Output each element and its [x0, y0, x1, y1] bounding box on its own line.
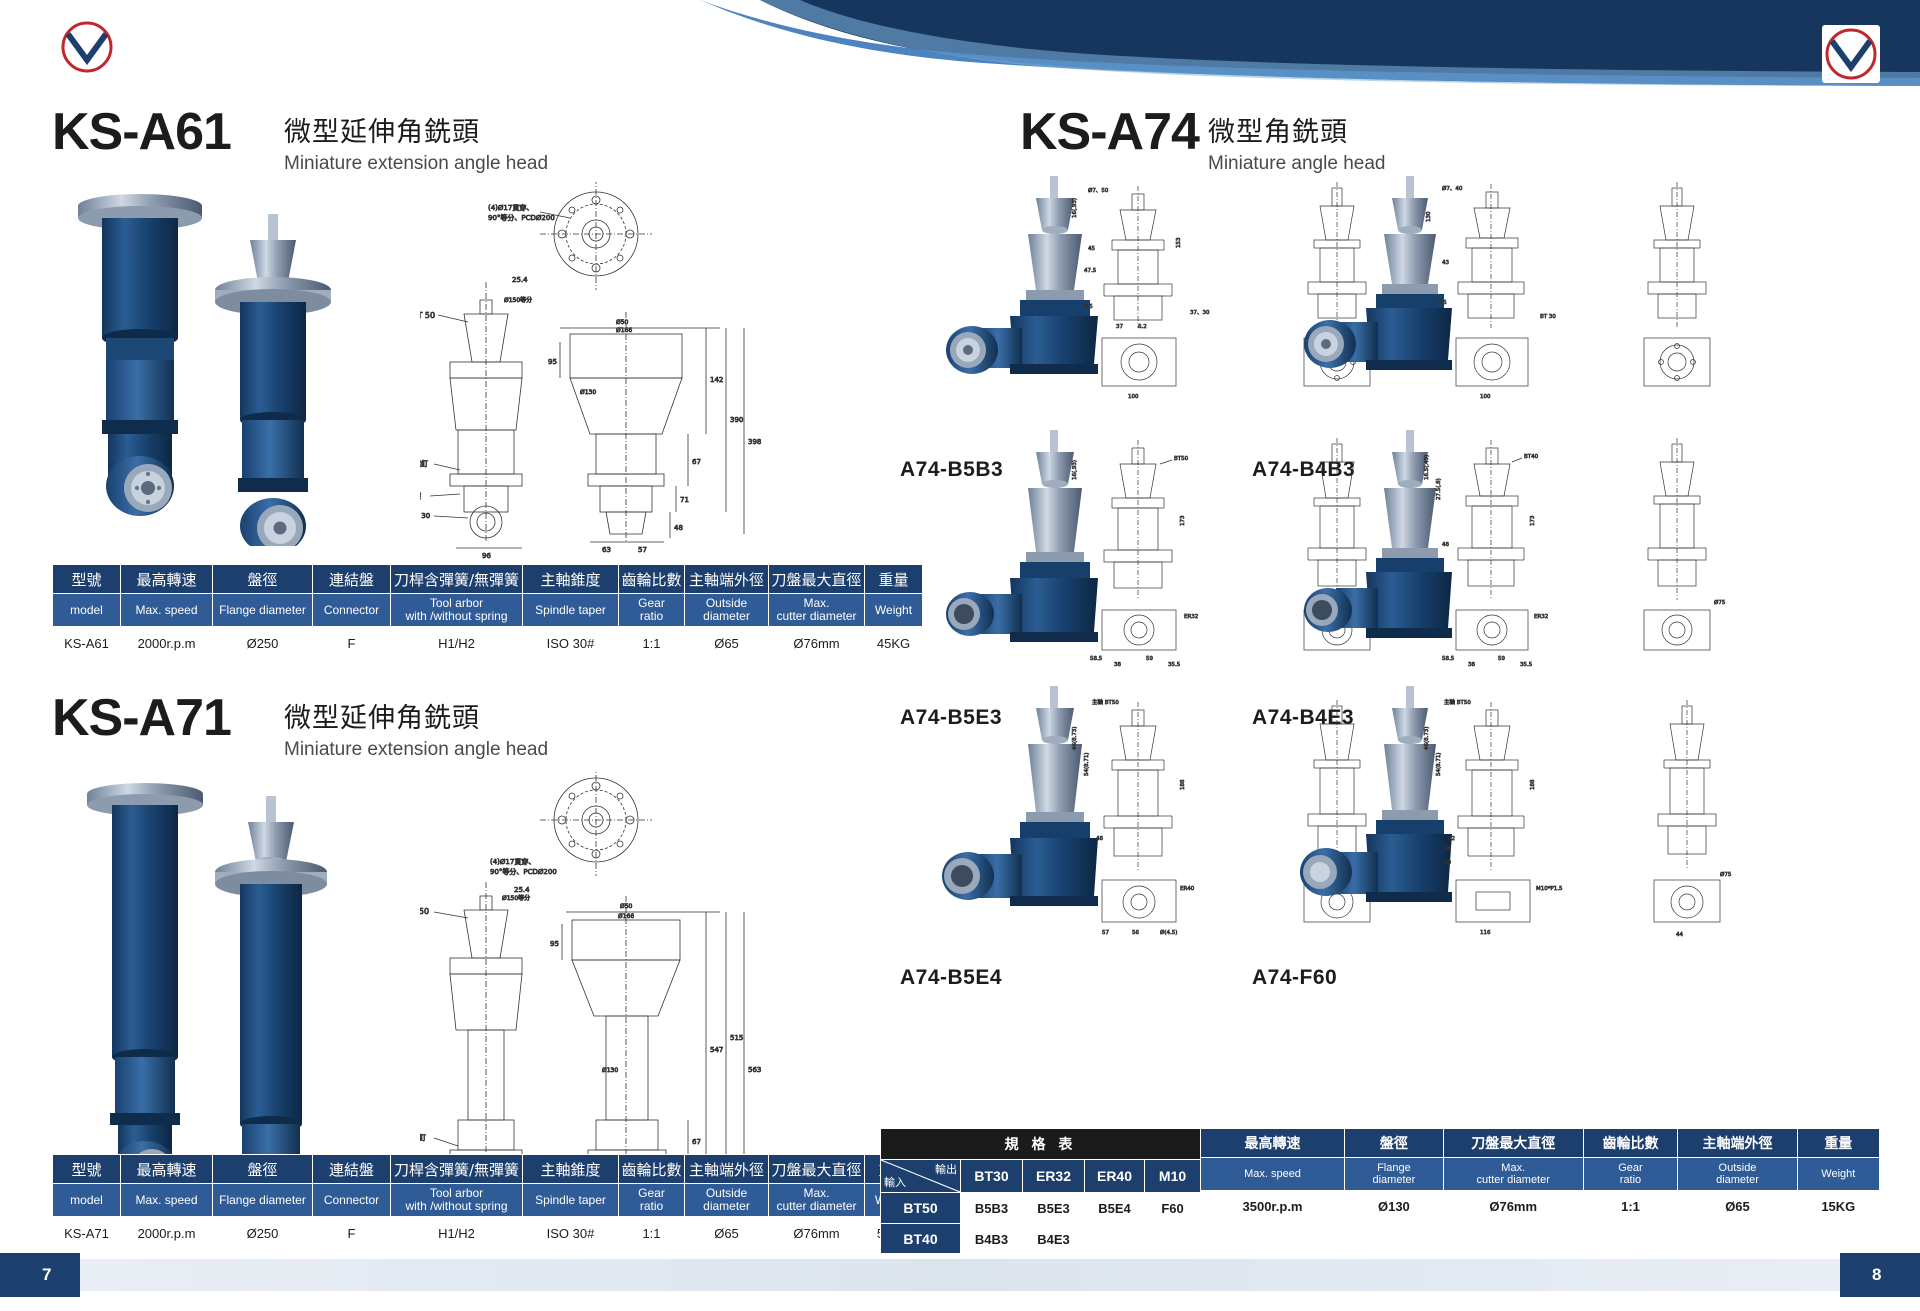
variant-label-a74-b5e4: A74-B5E4: [900, 966, 1002, 990]
svg-text:59: 59: [1146, 656, 1153, 662]
th-cn-8: 刀盤最大直徑: [769, 1155, 865, 1184]
svg-text:BT50: BT50: [1174, 456, 1189, 462]
svg-text:ER40: ER40: [1180, 886, 1195, 892]
svg-text:主軸 BT50: 主軸 BT50: [1092, 698, 1119, 706]
td-0: KS-A71: [53, 1217, 121, 1250]
product-title-cn: 微型延伸角銑頭: [284, 110, 548, 149]
svg-text:BT40: BT40: [1524, 454, 1539, 460]
svg-text:54(8.71): 54(8.71): [1084, 752, 1090, 776]
product-title-ks-a71: KS-A71: [52, 688, 231, 748]
svg-text:67: 67: [692, 1138, 701, 1146]
svg-text:90°等分、PCDØ200: 90°等分、PCDØ200: [490, 867, 557, 876]
perf-th-en-1: Flange diameter: [1345, 1158, 1444, 1191]
matrix-cell-1-0: B4B3: [961, 1224, 1023, 1255]
page-footer: 7 8: [0, 1253, 1920, 1311]
th-en-8: Max. cutter diameter: [769, 594, 865, 627]
th-en-5: Spindle taper: [523, 1184, 619, 1217]
product-title-cn: 微型角銑頭: [1208, 110, 1385, 149]
td-7: Ø65: [685, 1217, 769, 1250]
th-en-0: model: [53, 1184, 121, 1217]
svg-text:390: 390: [730, 416, 743, 424]
td-3: F: [313, 627, 391, 660]
svg-text:43: 43: [1442, 260, 1449, 266]
perf-th-en-2: Max. cutter diameter: [1443, 1158, 1583, 1191]
svg-text:BT 30: BT 30: [1540, 314, 1556, 320]
spec-table-ks-a71: 型號 最高轉速 盤徑 連結盤 刀桿含彈簧/無彈簧 主軸錐度 齒輪比數 主軸端外徑…: [52, 1154, 923, 1250]
svg-text:Ø130: Ø130: [580, 389, 596, 396]
svg-text:46(8.73): 46(8.73): [1424, 726, 1430, 750]
th-cn-6: 齒輪比數: [619, 565, 685, 594]
product-subtitle-ks-a71: 微型延伸角銑頭 Miniature extension angle head: [284, 696, 548, 761]
axis-in-label: 輸入: [884, 1174, 906, 1190]
svg-text:173: 173: [1180, 515, 1186, 526]
table-header-row-cn: 型號 最高轉速 盤徑 連結盤 刀桿含彈簧/無彈簧 主軸錐度 齒輪比數 主軸端外徑…: [53, 1155, 923, 1184]
technical-drawing-a74-b4e3: BT40 16.5(.49) 27.5(.8) 48 173 ER32 38 5…: [1420, 434, 1620, 674]
catalog-spread: KS-A61 微型延伸角銑頭 Miniature extension angle…: [0, 86, 1920, 1286]
svg-text:主軸BT 30: 主軸BT 30: [420, 511, 430, 520]
product-photo-ks-a61-front: [40, 186, 360, 546]
svg-text:Ø150等分: Ø150等分: [502, 894, 530, 902]
matrix-cell-1-2: [1085, 1224, 1145, 1255]
matrix-cell-1-1: B4E3: [1023, 1224, 1085, 1255]
svg-text:46(8.73): 46(8.73): [1072, 726, 1078, 750]
product-title-cn: 微型延伸角銑頭: [284, 696, 548, 735]
product-code: KS-A61: [52, 103, 231, 161]
footer-left-block: [0, 1253, 80, 1297]
matrix-cell-0-3: F60: [1145, 1193, 1201, 1224]
th-cn-7: 主軸端外徑: [685, 1155, 769, 1184]
matrix-cell-0-2: B5E4: [1085, 1193, 1145, 1224]
company-logo-icon: [60, 20, 114, 74]
product-title-en: Miniature extension angle head: [284, 739, 548, 761]
th-en-2: Flange diameter: [213, 594, 313, 627]
svg-text:153: 153: [1176, 237, 1182, 248]
svg-text:Ø50: Ø50: [616, 319, 629, 326]
svg-text:563: 563: [748, 1066, 761, 1074]
svg-text:Ø7、50: Ø7、50: [1088, 187, 1109, 194]
svg-text:16(.93): 16(.93): [1072, 198, 1078, 218]
th-en-3: Connector: [313, 594, 391, 627]
svg-text:16.5(.49): 16.5(.49): [1424, 455, 1430, 480]
matrix-cell-1-3: [1145, 1224, 1201, 1255]
th-cn-1: 最高轉速: [121, 565, 213, 594]
td-7: Ø65: [685, 627, 769, 660]
page-number-left: 7: [42, 1265, 51, 1285]
svg-text:116: 116: [1480, 930, 1491, 936]
product-subtitle-ks-a61: 微型延伸角銑頭 Miniature extension angle head: [284, 110, 548, 175]
th-cn-6: 齒輪比數: [619, 1155, 685, 1184]
technical-drawing-a74-b4b3-side: [1600, 178, 1760, 408]
th-en-1: Max. speed: [121, 1184, 213, 1217]
svg-text:100: 100: [1480, 394, 1491, 400]
td-2: Ø250: [213, 627, 313, 660]
table-header-row-en: model Max. speed Flange diameter Connect…: [53, 1184, 923, 1217]
technical-drawing-a74-b4b3: Ø7、40 130 43 4.5 100 BT 30: [1420, 178, 1620, 408]
matrix-cell-0-0: B5B3: [961, 1193, 1023, 1224]
technical-drawing-a74-f60-side: Ø75 44: [1610, 690, 1770, 940]
svg-text:4.5: 4.5: [1438, 300, 1447, 306]
matrix-row-label-1: BT40: [881, 1224, 961, 1255]
svg-text:35.5: 35.5: [1168, 662, 1181, 668]
th-en-4: Tool arbor with /without spring: [391, 1184, 523, 1217]
svg-text:Ø7、40: Ø7、40: [1442, 185, 1463, 192]
th-en-2: Flange diameter: [213, 1184, 313, 1217]
th-cn-3: 連結盤: [313, 565, 391, 594]
perf-header-row-en: Max. speed Flange diameter Max. cutter d…: [1201, 1158, 1880, 1191]
svg-text:95: 95: [550, 940, 559, 948]
th-en-4: Tool arbor with /without spring: [391, 594, 523, 627]
table-header-row-cn: 型號 最高轉速 盤徑 連結盤 刀桿含彈簧/無彈簧 主軸錐度 齒輪比數 主軸端外徑…: [53, 565, 923, 594]
td-1: 2000r.p.m: [121, 627, 213, 660]
svg-text:173: 173: [1530, 515, 1536, 526]
perf-th-cn-4: 主軸端外徑: [1678, 1129, 1797, 1158]
variant-label-a74-f60: A74-F60: [1252, 966, 1337, 990]
svg-text:57: 57: [638, 546, 647, 554]
td-6: 1:1: [619, 627, 685, 660]
svg-text:38: 38: [1114, 662, 1121, 668]
svg-text:Ø(4.5): Ø(4.5): [1160, 929, 1177, 936]
perf-th-en-5: Weight: [1797, 1158, 1879, 1191]
th-cn-2: 盤徑: [213, 565, 313, 594]
svg-text:58.5: 58.5: [1090, 656, 1103, 662]
perf-td-3: 1:1: [1583, 1191, 1678, 1222]
td-5: ISO 30#: [523, 1217, 619, 1250]
td-8: Ø76mm: [769, 627, 865, 660]
svg-text:38: 38: [1468, 662, 1475, 668]
matrix-col-2: ER40: [1085, 1160, 1145, 1193]
perf-th-en-0: Max. speed: [1201, 1158, 1345, 1191]
svg-text:37、30: 37、30: [1190, 310, 1210, 316]
perf-td-2: Ø76mm: [1443, 1191, 1583, 1222]
performance-table: 最高轉速 盤徑 刀盤最大直徑 齒輪比數 主軸端外徑 重量 Max. speed …: [1200, 1128, 1880, 1222]
svg-text:(4)Ø17貫穿、: (4)Ø17貫穿、: [490, 857, 535, 866]
model-matrix-table: 規 格 表 輸入 輸出 BT30 ER32 ER40 M10 BT50 B5B3…: [880, 1128, 1201, 1255]
td-4: H1/H2: [391, 1217, 523, 1250]
perf-th-cn-2: 刀盤最大直徑: [1443, 1129, 1583, 1158]
perf-th-en-3: Gear ratio: [1583, 1158, 1678, 1191]
svg-text:25.4: 25.4: [514, 886, 530, 894]
matrix-title: 規 格 表: [881, 1129, 1201, 1160]
th-cn-5: 主軸錐度: [523, 1155, 619, 1184]
td-4: H1/H2: [391, 627, 523, 660]
svg-text:35.5: 35.5: [1520, 662, 1533, 668]
svg-text:90°等分、PCDØ200: 90°等分、PCDØ200: [488, 213, 555, 222]
th-en-8: Max. cutter diameter: [769, 1184, 865, 1217]
svg-text:刻度螺釘: 刻度螺釘: [420, 1133, 426, 1142]
matrix-row-bt50: BT50 B5B3 B5E3 B5E4 F60: [881, 1193, 1201, 1224]
svg-text:Ø166: Ø166: [616, 327, 632, 334]
svg-text:48: 48: [674, 524, 683, 532]
svg-text:BT 50: BT 50: [420, 311, 435, 320]
svg-text:188: 188: [1180, 779, 1186, 790]
svg-text:398: 398: [748, 438, 761, 446]
svg-text:47.5: 47.5: [1084, 268, 1097, 274]
technical-drawing-ks-a61: (4)Ø17貫穿、 90°等分、PCDØ200 25.4 BT 50 刻度螺釘: [420, 182, 920, 562]
svg-text:188: 188: [1530, 779, 1536, 790]
matrix-col-0: BT30: [961, 1160, 1023, 1193]
matrix-row-label-0: BT50: [881, 1193, 961, 1224]
svg-text:58.5: 58.5: [1442, 656, 1455, 662]
svg-text:Ø75: Ø75: [1720, 871, 1732, 878]
svg-text:67: 67: [692, 458, 701, 466]
th-en-5: Spindle taper: [523, 594, 619, 627]
th-cn-2: 盤徑: [213, 1155, 313, 1184]
svg-text:34: 34: [1444, 846, 1451, 852]
svg-text:6.5: 6.5: [1084, 304, 1093, 310]
matrix-cell-0-1: B5E3: [1023, 1193, 1085, 1224]
svg-text:63: 63: [602, 546, 611, 554]
svg-text:BT 50: BT 50: [420, 907, 429, 916]
th-cn-4: 刀桿含彈簧/無彈簧: [391, 565, 523, 594]
svg-text:刻度螺釘: 刻度螺釘: [420, 459, 428, 468]
td-1: 2000r.p.m: [121, 1217, 213, 1250]
th-cn-0: 型號: [53, 1155, 121, 1184]
matrix-row-bt40: BT40 B4B3 B4E3: [881, 1224, 1201, 1255]
axis-label-cell: 輸入 輸出: [881, 1160, 961, 1193]
table-value-row: KS-A61 2000r.p.m Ø250 F H1/H2 ISO 30# 1:…: [53, 627, 923, 660]
svg-text:71: 71: [680, 496, 689, 504]
td-3: F: [313, 1217, 391, 1250]
svg-text:54(8.71): 54(8.71): [1436, 752, 1442, 776]
matrix-col-3: M10: [1145, 1160, 1201, 1193]
th-cn-7: 主軸端外徑: [685, 565, 769, 594]
technical-drawing-a74-f60: 主軸 BT50 46(8.73) 54(8.71) 188 42 M10*P1.…: [1420, 690, 1630, 940]
th-en-6: Gear ratio: [619, 1184, 685, 1217]
td-2: Ø250: [213, 1217, 313, 1250]
svg-text:Ø130: Ø130: [602, 1067, 618, 1074]
svg-text:Ø75: Ø75: [1714, 599, 1726, 606]
page-number-right: 8: [1872, 1265, 1881, 1285]
svg-text:142: 142: [710, 376, 723, 384]
perf-th-cn-3: 齒輪比數: [1583, 1129, 1678, 1158]
perf-td-1: Ø130: [1345, 1191, 1444, 1222]
company-logo-icon: [1824, 27, 1878, 81]
svg-text:130: 130: [1426, 211, 1432, 222]
svg-text:16(.93): 16(.93): [1072, 460, 1078, 480]
th-cn-4: 刀桿含彈簧/無彈簧: [391, 1155, 523, 1184]
product-subtitle-ks-a74: 微型角銑頭 Miniature angle head: [1208, 110, 1385, 175]
svg-text:44: 44: [1676, 932, 1683, 938]
th-en-3: Connector: [313, 1184, 391, 1217]
svg-text:6.2: 6.2: [1138, 324, 1147, 330]
th-en-7: Outside diameter: [685, 1184, 769, 1217]
th-en-7: Outside diameter: [685, 594, 769, 627]
perf-td-4: Ø65: [1678, 1191, 1797, 1222]
svg-text:56: 56: [1132, 930, 1139, 936]
svg-text:主軸 BT50: 主軸 BT50: [1444, 698, 1471, 706]
th-en-6: Gear ratio: [619, 594, 685, 627]
svg-text:95: 95: [548, 358, 557, 366]
th-cn-8: 刀盤最大直徑: [769, 565, 865, 594]
axis-out-label: 輸出: [935, 1161, 957, 1177]
svg-text:45: 45: [1088, 246, 1095, 252]
svg-text:59: 59: [1498, 656, 1505, 662]
svg-text:42: 42: [1448, 836, 1455, 842]
perf-th-en-4: Outside diameter: [1678, 1158, 1797, 1191]
svg-text:100: 100: [1128, 394, 1139, 400]
perf-th-cn-0: 最高轉速: [1201, 1129, 1345, 1158]
svg-text:30: 30: [1444, 860, 1451, 866]
th-cn-0: 型號: [53, 565, 121, 594]
svg-text:48: 48: [1096, 836, 1103, 842]
right-page: KS-A74 微型角銑頭 Miniature angle head: [960, 86, 1920, 1286]
svg-text:547: 547: [710, 1046, 723, 1054]
svg-text:515: 515: [730, 1034, 743, 1042]
svg-text:Ø150等分: Ø150等分: [504, 296, 532, 304]
perf-th-cn-5: 重量: [1797, 1129, 1879, 1158]
td-8: Ø76mm: [769, 1217, 865, 1250]
spec-table-ks-a61: 型號 最高轉速 盤徑 連結盤 刀桿含彈簧/無彈簧 主軸錐度 齒輪比數 主軸端外徑…: [52, 564, 923, 660]
svg-text:48: 48: [1442, 542, 1449, 548]
td-0: KS-A61: [53, 627, 121, 660]
technical-drawing-a74-b4e3-side: Ø75: [1600, 434, 1760, 674]
perf-td-5: 15KG: [1797, 1191, 1879, 1222]
product-code: KS-A74: [1020, 103, 1199, 161]
td-6: 1:1: [619, 1217, 685, 1250]
svg-text:27.5(.8): 27.5(.8): [1436, 478, 1442, 500]
perf-header-row-cn: 最高轉速 盤徑 刀盤最大直徑 齒輪比數 主軸端外徑 重量: [1201, 1129, 1880, 1158]
top-banner: [0, 0, 1920, 86]
matrix-header-row: 輸入 輸出 BT30 ER32 ER40 M10: [881, 1160, 1201, 1193]
svg-text:(4)Ø17貫穿、: (4)Ø17貫穿、: [488, 203, 533, 212]
matrix-col-1: ER32: [1023, 1160, 1085, 1193]
th-cn-1: 最高轉速: [121, 1155, 213, 1184]
svg-text:57: 57: [1102, 930, 1109, 936]
product-title-ks-a61: KS-A61: [52, 102, 231, 162]
logo-left: [58, 18, 116, 76]
svg-text:刻度鍵: 刻度鍵: [420, 491, 421, 500]
perf-td-0: 3500r.p.m: [1201, 1191, 1345, 1222]
left-page: KS-A61 微型延伸角銑頭 Miniature extension angle…: [0, 86, 960, 1286]
banner-swoosh-graphic: [0, 0, 1920, 86]
th-en-0: model: [53, 594, 121, 627]
product-title-en: Miniature extension angle head: [284, 153, 548, 175]
svg-text:ER32: ER32: [1184, 614, 1198, 620]
th-cn-3: 連結盤: [313, 1155, 391, 1184]
table-value-row: KS-A71 2000r.p.m Ø250 F H1/H2 ISO 30# 1:…: [53, 1217, 923, 1250]
table-header-row-en: model Max. speed Flange diameter Connect…: [53, 594, 923, 627]
th-en-1: Max. speed: [121, 594, 213, 627]
perf-th-cn-1: 盤徑: [1345, 1129, 1444, 1158]
product-code: KS-A71: [52, 689, 231, 747]
svg-text:ER32: ER32: [1534, 614, 1548, 620]
svg-text:96: 96: [482, 552, 491, 560]
svg-text:M10*P1.5: M10*P1.5: [1536, 886, 1563, 892]
perf-value-row: 3500r.p.m Ø130 Ø76mm 1:1 Ø65 15KG: [1201, 1191, 1880, 1222]
product-title-ks-a74: KS-A74: [1020, 102, 1199, 162]
logo-right: [1822, 25, 1880, 83]
svg-text:25.4: 25.4: [512, 276, 528, 284]
matrix-title-row: 規 格 表: [881, 1129, 1201, 1160]
th-cn-5: 主軸錐度: [523, 565, 619, 594]
footer-gradient-band: [80, 1259, 1840, 1291]
td-5: ISO 30#: [523, 627, 619, 660]
svg-text:37: 37: [1116, 324, 1123, 330]
